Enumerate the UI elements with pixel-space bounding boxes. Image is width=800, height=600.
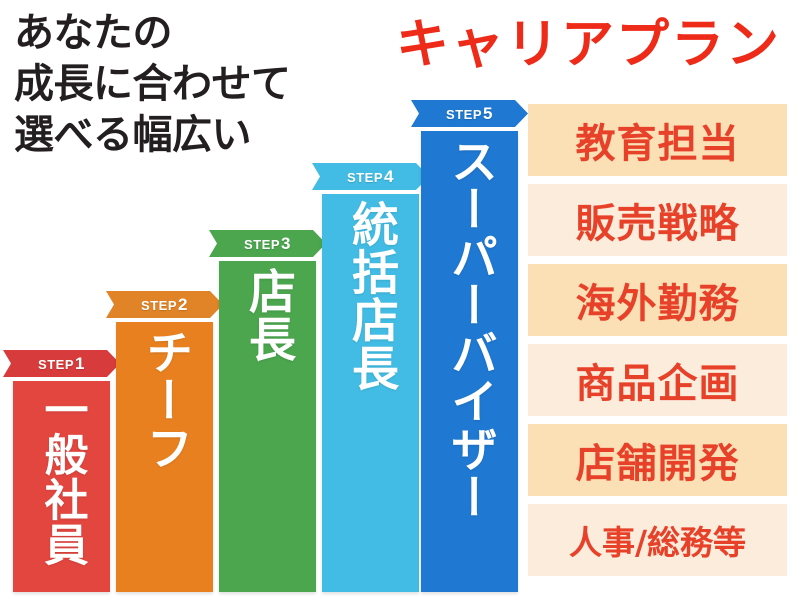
option-row[interactable]: 商品企画 <box>528 344 787 416</box>
title-char-glyph: プ <box>616 15 669 74</box>
step-badge-prefix: STEP <box>347 170 383 185</box>
step-column-3[interactable]: STEP3店長 <box>219 230 316 592</box>
step-badge-1: STEP1 <box>3 350 120 377</box>
headline-line-2: 成長に合わせて <box>14 59 414 110</box>
step-badge-prefix: STEP <box>141 298 177 313</box>
option-row[interactable]: 販売戦略 <box>528 184 787 256</box>
title-char: ャ <box>450 6 505 84</box>
step-title: スーパーバイザー <box>446 137 493 592</box>
step-bar-4[interactable]: 統括店長 <box>322 194 419 592</box>
title-char-glyph: ャ <box>451 15 504 74</box>
step-column-2[interactable]: STEP2チーフ <box>116 291 213 592</box>
step-bar-1[interactable]: 一般社員 <box>13 381 110 592</box>
title-char: キ <box>395 6 450 84</box>
step-column-5[interactable]: STEP5スーパーバイザー <box>421 100 518 592</box>
option-label: 商品企画 <box>576 351 740 409</box>
title-char-glyph: ア <box>561 15 614 74</box>
title-char: ラ <box>670 6 725 84</box>
option-label: 海外勤務 <box>576 271 740 329</box>
option-row[interactable]: 店舗開発 <box>528 424 787 496</box>
headline-line-3: 選べる幅広い <box>14 110 414 161</box>
step-badge-4: STEP4 <box>312 163 429 190</box>
title-char: ア <box>560 6 615 84</box>
step-badge-label: STEP5 <box>446 104 493 124</box>
title-char: プ <box>615 6 670 84</box>
step-badge-prefix: STEP <box>446 107 482 122</box>
step-badge-prefix: STEP <box>244 237 280 252</box>
step-title: 店長 <box>244 267 291 592</box>
step-bar-2[interactable]: チーフ <box>116 322 213 592</box>
step-badge-label: STEP2 <box>141 295 188 315</box>
step-badge-number: 2 <box>178 295 188 314</box>
step-badge-label: STEP3 <box>244 234 291 254</box>
title-char-glyph: ラ <box>671 15 724 74</box>
step-badge-2: STEP2 <box>106 291 223 318</box>
title-char-glyph: ン <box>726 15 779 74</box>
title-badge: キャリアプラン <box>395 6 780 84</box>
step-bar-3[interactable]: 店長 <box>219 261 316 592</box>
step-badge-number: 3 <box>281 234 291 253</box>
option-row[interactable]: 人事/総務等 <box>528 504 787 576</box>
title-char: リ <box>505 6 560 84</box>
title-char-glyph: キ <box>396 15 449 74</box>
step-column-4[interactable]: STEP4統括店長 <box>322 163 419 592</box>
title-char: ン <box>725 6 780 84</box>
option-row[interactable]: 海外勤務 <box>528 264 787 336</box>
headline-block: あなたの 成長に合わせて 選べる幅広い <box>14 8 414 161</box>
step-badge-number: 1 <box>75 354 85 373</box>
option-label: 人事/総務等 <box>569 516 746 564</box>
headline-line-1: あなたの <box>14 8 414 59</box>
option-label: 販売戦略 <box>576 191 740 249</box>
step-badge-label: STEP1 <box>38 354 85 374</box>
option-list: 教育担当販売戦略海外勤務商品企画店舗開発人事/総務等 <box>528 104 787 584</box>
step-badge-3: STEP3 <box>209 230 326 257</box>
step-badge-5: STEP5 <box>411 100 528 127</box>
option-label: 店舗開発 <box>576 431 740 489</box>
step-badge-label: STEP4 <box>347 167 394 187</box>
step-title: チーフ <box>141 328 188 592</box>
step-badge-number: 5 <box>483 104 493 123</box>
step-bar-5[interactable]: スーパーバイザー <box>421 131 518 592</box>
step-badge-number: 4 <box>384 167 394 186</box>
option-row[interactable]: 教育担当 <box>528 104 787 176</box>
step-title: 統括店長 <box>347 200 394 592</box>
option-label: 教育担当 <box>576 111 740 169</box>
step-title: 一般社員 <box>40 387 84 592</box>
title-char-glyph: リ <box>506 15 559 74</box>
step-badge-prefix: STEP <box>38 357 74 372</box>
step-column-1[interactable]: STEP1一般社員 <box>13 350 110 592</box>
